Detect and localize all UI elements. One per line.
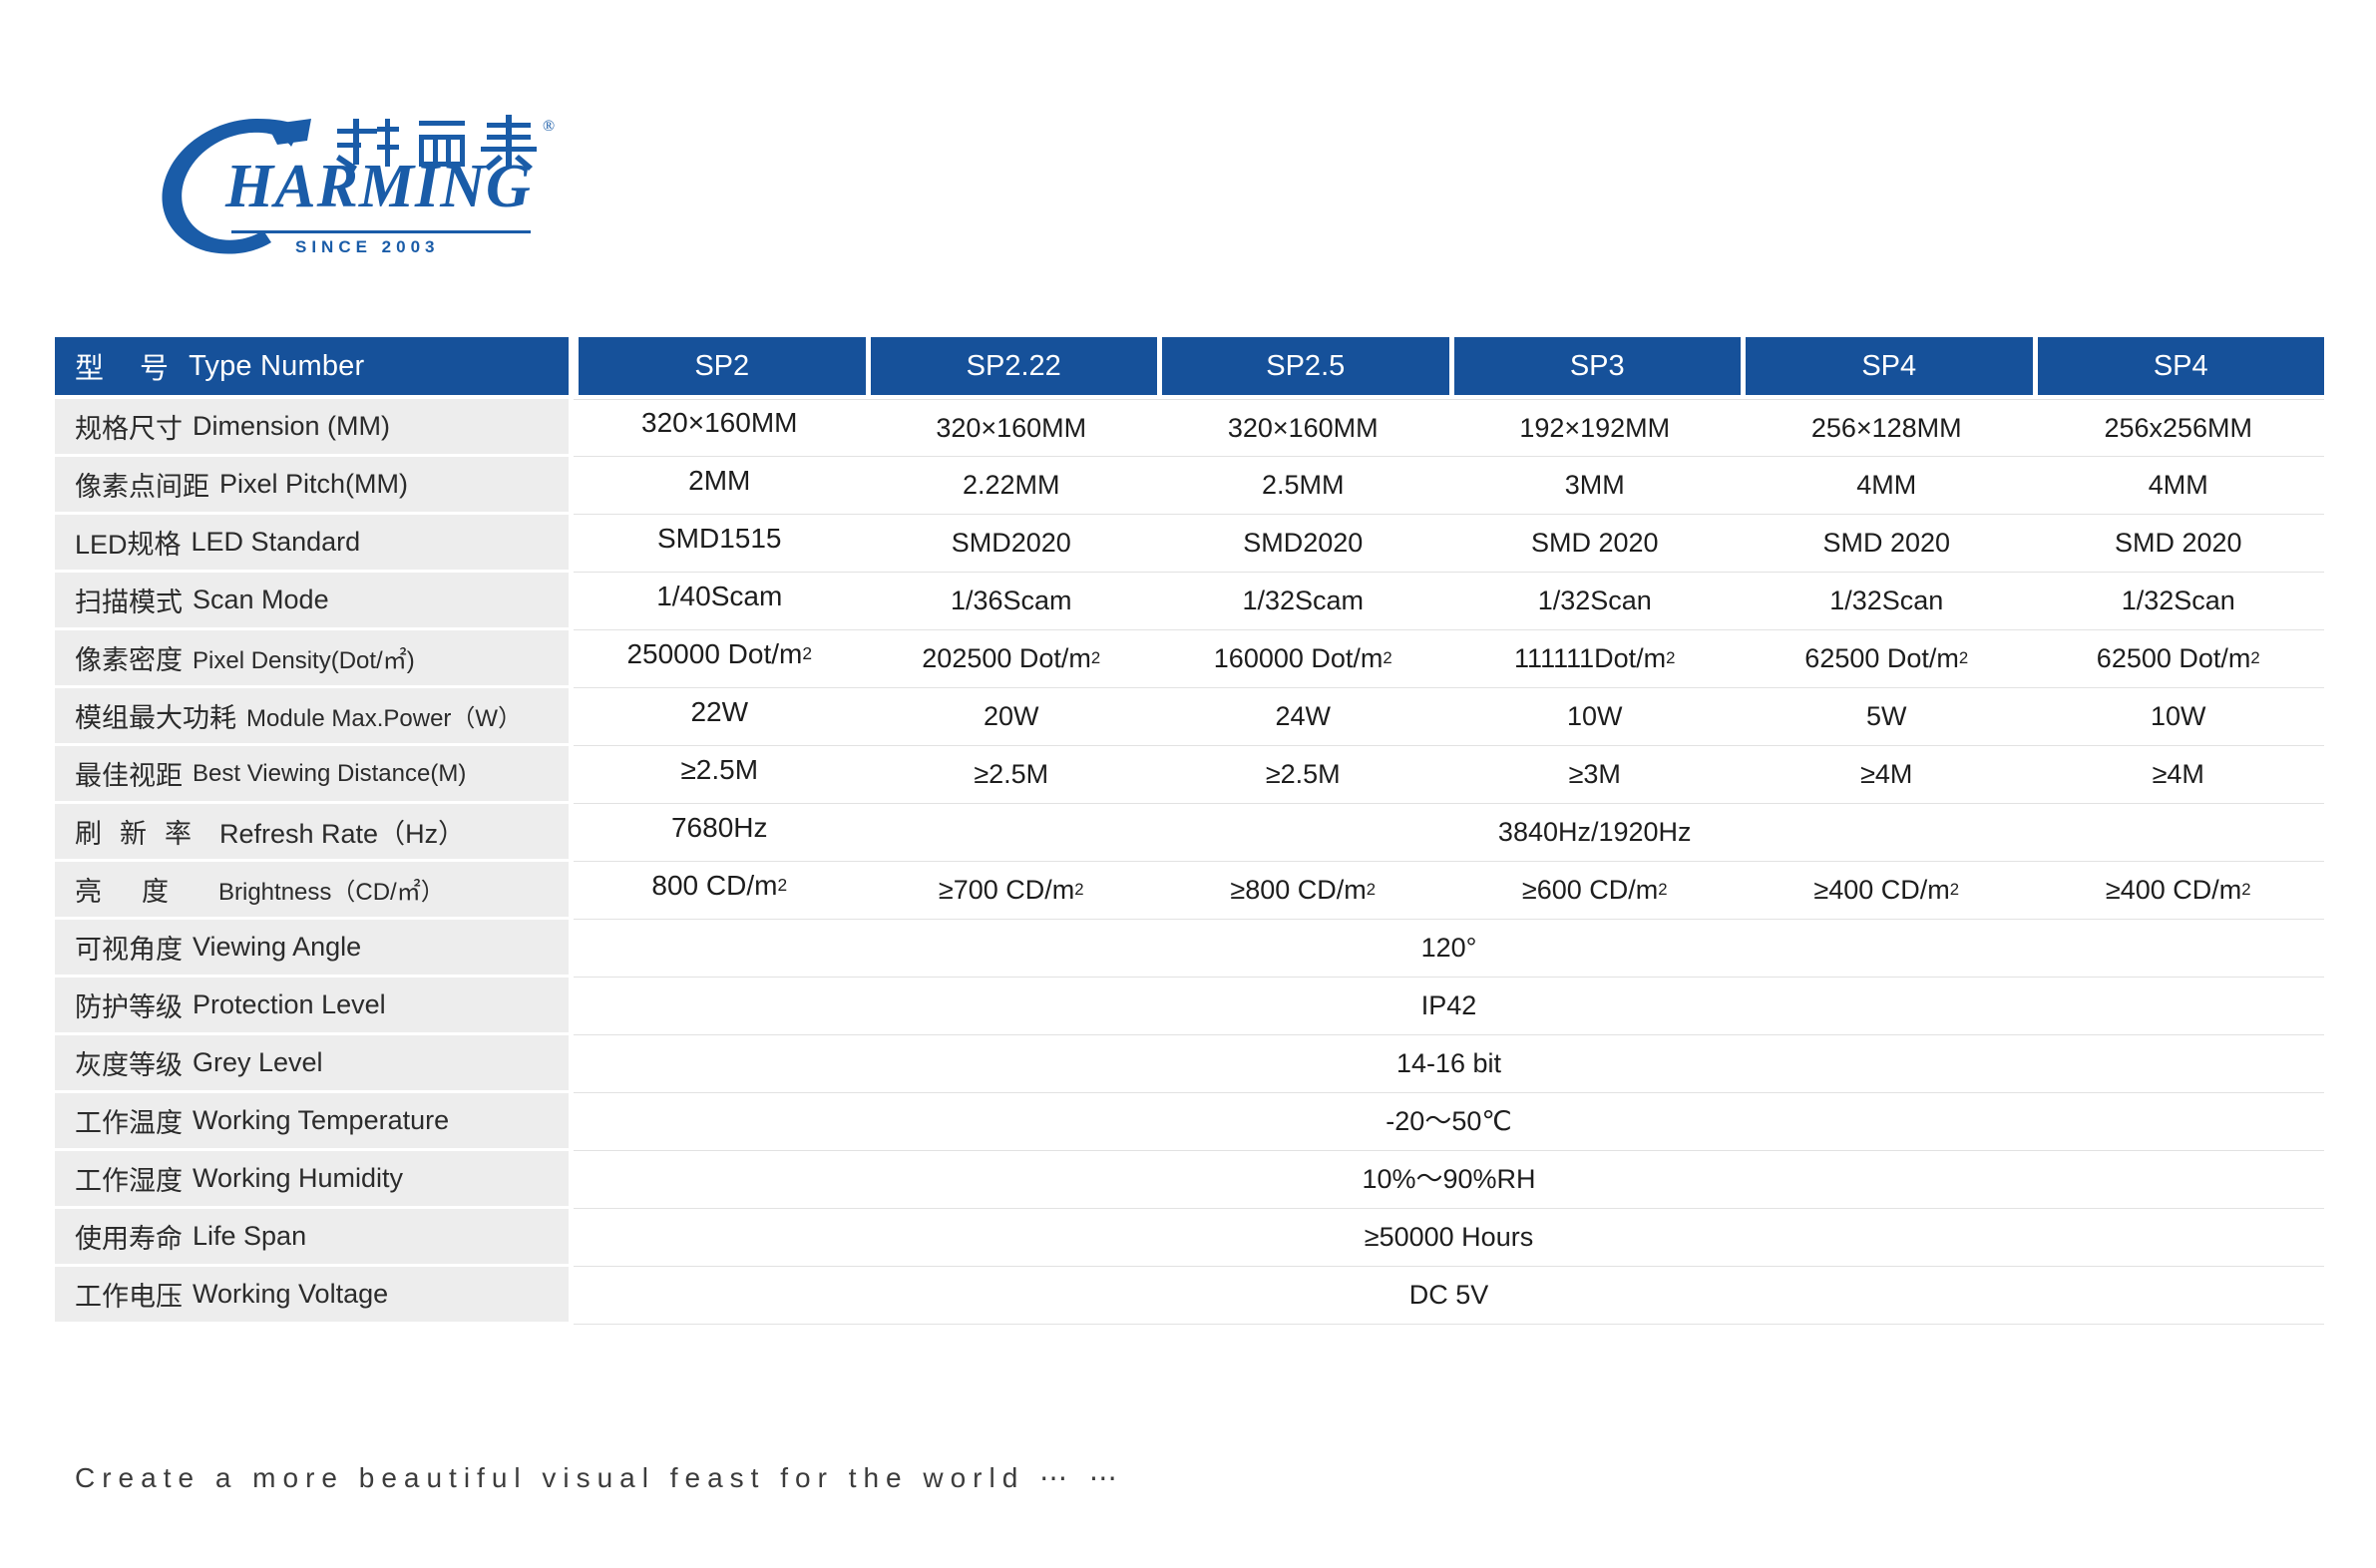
cell-value: 256×128MM xyxy=(1741,400,2033,456)
table-row: 使用寿命Life Span≥50000 Hours xyxy=(55,1209,2324,1267)
cell-value: 160000 Dot/m2 xyxy=(1157,630,1449,687)
row-label: 亮度Brightness（CD/㎡） xyxy=(55,862,569,920)
row-label-cn: 灰度等级 xyxy=(75,1043,183,1082)
cell-value: 4MM xyxy=(1741,457,2033,514)
cell-value: 1/32Scan xyxy=(2033,573,2325,629)
cell-value: 10W xyxy=(2033,688,2325,745)
table-row: 刷新率Refresh Rate（Hz）7680Hz3840Hz/1920Hz xyxy=(55,804,2324,862)
row-values: -20～50℃ xyxy=(574,1093,2324,1151)
table-row: 防护等级Protection LevelIP42 xyxy=(55,978,2324,1035)
row-label-en: Grey Level xyxy=(193,1047,323,1078)
cell-value: SMD1515 xyxy=(574,510,866,567)
cell-value: ≥2.5M xyxy=(1157,746,1449,803)
cell-value-merged: DC 5V xyxy=(1409,1267,1489,1324)
row-label: 刷新率Refresh Rate（Hz） xyxy=(55,804,569,862)
row-values: IP42 xyxy=(574,978,2324,1035)
cell-value: SMD 2020 xyxy=(1449,515,1742,572)
table-row: 工作湿度Working Humidity10%～90%RH xyxy=(55,1151,2324,1209)
row-label-cn: 工作湿度 xyxy=(75,1159,183,1198)
cell-value: ≥400 CD/m2 xyxy=(1741,862,2033,919)
cell-value: 1/32Scan xyxy=(1449,573,1742,629)
row-label: 使用寿命Life Span xyxy=(55,1209,569,1267)
row-label: 工作温度Working Temperature xyxy=(55,1093,569,1151)
cell-value: 24W xyxy=(1157,688,1449,745)
row-label-en: Best Viewing Distance(M) xyxy=(193,760,466,788)
row-label-cn: 亮度 xyxy=(75,870,208,909)
row-label-en: Scan Mode xyxy=(193,585,329,615)
row-label-cn: 使用寿命 xyxy=(75,1217,183,1256)
row-label-en: Working Humidity xyxy=(193,1163,403,1194)
row-label-cn: 模组最大功耗 xyxy=(75,696,236,735)
row-label-cn: 工作温度 xyxy=(75,1101,183,1140)
row-values: ≥50000 Hours xyxy=(574,1209,2324,1267)
cell-value: SMD2020 xyxy=(866,515,1158,572)
cell-value: 7680Hz xyxy=(574,799,866,856)
cell-value: 4MM xyxy=(2033,457,2325,514)
row-label: 工作电压Working Voltage xyxy=(55,1267,569,1325)
table-row: 灰度等级Grey Level14-16 bit xyxy=(55,1035,2324,1093)
table-row: 亮度Brightness（CD/㎡）800 CD/m2≥700 CD/m2≥80… xyxy=(55,862,2324,920)
cell-value: ≥400 CD/m2 xyxy=(2033,862,2325,919)
header-col-sp2: SP2 xyxy=(579,337,866,395)
row-values: SMD1515SMD2020SMD2020SMD 2020SMD 2020SMD… xyxy=(574,515,2324,573)
row-label-en: Life Span xyxy=(193,1221,306,1252)
header-col-sp222: SP2.22 xyxy=(871,337,1158,395)
cell-value: 2.5MM xyxy=(1157,457,1449,514)
cell-value: 250000 Dot/m2 xyxy=(574,625,866,682)
row-label: 像素密度Pixel Density(Dot/㎡) xyxy=(55,630,569,688)
table-row: 可视角度Viewing Angle120° xyxy=(55,920,2324,978)
row-label: 像素点间距Pixel Pitch(MM) xyxy=(55,457,569,515)
row-values: 120° xyxy=(574,920,2324,978)
row-values: 320×160MM320×160MM320×160MM192×192MM256×… xyxy=(574,399,2324,457)
row-label: 模组最大功耗Module Max.Power（W） xyxy=(55,688,569,746)
row-values: DC 5V xyxy=(574,1267,2324,1325)
cell-value: ≥800 CD/m2 xyxy=(1157,862,1449,919)
cell-value: SMD 2020 xyxy=(1741,515,2033,572)
row-label-en: Brightness（CD/㎡） xyxy=(218,872,445,907)
charming-logo: ® HARMING SINCE 2003 xyxy=(140,105,598,264)
cell-value: 192×192MM xyxy=(1449,400,1742,456)
cell-value: 1/40Scam xyxy=(574,568,866,624)
cell-value: 20W xyxy=(866,688,1158,745)
row-values: 14-16 bit xyxy=(574,1035,2324,1093)
row-values: 10%～90%RH xyxy=(574,1151,2324,1209)
cell-value: 320×160MM xyxy=(866,400,1158,456)
cell-value-merged: ≥50000 Hours xyxy=(1365,1209,1533,1266)
cell-value: ≥2.5M xyxy=(574,741,866,798)
cell-value: ≥4M xyxy=(2033,746,2325,803)
table-row: LED规格LED StandardSMD1515SMD2020SMD2020SM… xyxy=(55,515,2324,573)
row-label-en: Protection Level xyxy=(193,989,386,1020)
cell-value-merged: 10%～90%RH xyxy=(1362,1151,1535,1208)
cell-value-merged: IP42 xyxy=(1421,978,1477,1034)
specification-table: 型 号 Type Number SP2 SP2.22 SP2.5 SP3 SP4… xyxy=(55,337,2324,1325)
row-label: 规格尺寸Dimension (MM) xyxy=(55,399,569,457)
svg-text:HARMING: HARMING xyxy=(224,153,532,220)
row-label-en: Pixel Density(Dot/㎡) xyxy=(193,640,415,675)
table-row: 模组最大功耗Module Max.Power（W）22W20W24W10W5W1… xyxy=(55,688,2324,746)
row-label: 扫描模式Scan Mode xyxy=(55,573,569,630)
cell-value: 5W xyxy=(1741,688,2033,745)
row-values: ≥2.5M≥2.5M≥2.5M≥3M≥4M≥4M xyxy=(574,746,2324,804)
header-label-cell: 型 号 Type Number xyxy=(55,337,569,395)
cell-value: 256x256MM xyxy=(2033,400,2325,456)
row-label: 防护等级Protection Level xyxy=(55,978,569,1035)
row-values: 800 CD/m2≥700 CD/m2≥800 CD/m2≥600 CD/m2≥… xyxy=(574,862,2324,920)
svg-text:®: ® xyxy=(543,118,555,135)
row-label: 工作湿度Working Humidity xyxy=(55,1151,569,1209)
row-label: 灰度等级Grey Level xyxy=(55,1035,569,1093)
cell-value: 202500 Dot/m2 xyxy=(866,630,1158,687)
table-row: 工作温度Working Temperature-20～50℃ xyxy=(55,1093,2324,1151)
header-col-sp4-b: SP4 xyxy=(2038,337,2325,395)
table-row: 最佳视距Best Viewing Distance(M)≥2.5M≥2.5M≥2… xyxy=(55,746,2324,804)
cell-value: 111111Dot/m2 xyxy=(1449,630,1742,687)
table-header-row: 型 号 Type Number SP2 SP2.22 SP2.5 SP3 SP4… xyxy=(55,337,2324,395)
cell-value: 3MM xyxy=(1449,457,1742,514)
cell-value: ≥700 CD/m2 xyxy=(866,862,1158,919)
table-row: 像素点间距Pixel Pitch(MM)2MM2.22MM2.5MM3MM4MM… xyxy=(55,457,2324,515)
row-label-cn: 工作电压 xyxy=(75,1275,183,1314)
cell-value: 10W xyxy=(1449,688,1742,745)
cell-value-merged: -20～50℃ xyxy=(1386,1093,1511,1150)
row-label-en: LED Standard xyxy=(192,527,361,558)
cell-value: 2.22MM xyxy=(866,457,1158,514)
row-values: 2MM2.22MM2.5MM3MM4MM4MM xyxy=(574,457,2324,515)
row-label: LED规格LED Standard xyxy=(55,515,569,573)
header-label-en: Type Number xyxy=(189,350,364,383)
row-label: 最佳视距Best Viewing Distance(M) xyxy=(55,746,569,804)
row-values: 22W20W24W10W5W10W xyxy=(574,688,2324,746)
cell-value: 2MM xyxy=(574,452,866,509)
row-label-en: Module Max.Power（W） xyxy=(246,698,522,733)
row-label-en: Refresh Rate（Hz） xyxy=(219,812,465,851)
table-row: 扫描模式Scan Mode1/40Scam1/36Scam1/32Scam1/3… xyxy=(55,573,2324,630)
header-col-sp4-a: SP4 xyxy=(1746,337,2033,395)
cell-value: 22W xyxy=(574,683,866,740)
tagline: Create a more beautiful visual feast for… xyxy=(75,1461,1124,1494)
row-label-cn: 扫描模式 xyxy=(75,581,183,619)
row-label-cn: 像素密度 xyxy=(75,638,183,677)
header-label-cn: 型 号 xyxy=(75,345,189,387)
row-label-en: Working Voltage xyxy=(193,1279,388,1310)
svg-text:SINCE 2003: SINCE 2003 xyxy=(295,237,440,256)
cell-value: 1/36Scam xyxy=(866,573,1158,629)
table-row: 像素密度Pixel Density(Dot/㎡)250000 Dot/m2202… xyxy=(55,630,2324,688)
row-values: 250000 Dot/m2202500 Dot/m2160000 Dot/m21… xyxy=(574,630,2324,688)
row-label: 可视角度Viewing Angle xyxy=(55,920,569,978)
cell-value: 62500 Dot/m2 xyxy=(1741,630,2033,687)
header-col-sp3: SP3 xyxy=(1454,337,1742,395)
header-col-sp25: SP2.5 xyxy=(1162,337,1449,395)
cell-value: SMD2020 xyxy=(1157,515,1449,572)
cell-value: 1/32Scan xyxy=(1741,573,2033,629)
row-label-cn: 规格尺寸 xyxy=(75,407,183,446)
cell-value: 800 CD/m2 xyxy=(574,857,866,914)
cell-value: 320×160MM xyxy=(1157,400,1449,456)
row-label-cn: 刷新率 xyxy=(75,812,209,851)
row-values: 7680Hz3840Hz/1920Hz xyxy=(574,804,2324,862)
row-values: 1/40Scam1/36Scam1/32Scam1/32Scan1/32Scan… xyxy=(574,573,2324,630)
row-label-en: Viewing Angle xyxy=(193,932,361,963)
cell-value: ≥2.5M xyxy=(866,746,1158,803)
row-label-en: Dimension (MM) xyxy=(193,411,390,442)
cell-value: SMD 2020 xyxy=(2033,515,2325,572)
cell-value: 1/32Scam xyxy=(1157,573,1449,629)
cell-value: 320×160MM xyxy=(574,395,866,451)
cell-value-merged: 120° xyxy=(1421,920,1477,977)
row-label-cn: 防护等级 xyxy=(75,985,183,1024)
cell-value: 62500 Dot/m2 xyxy=(2033,630,2325,687)
row-label-cn: LED规格 xyxy=(75,523,182,562)
row-label-cn: 最佳视距 xyxy=(75,754,183,793)
cell-value-merged: 3840Hz/1920Hz xyxy=(866,804,2325,861)
cell-value: ≥600 CD/m2 xyxy=(1449,862,1742,919)
row-label-en: Pixel Pitch(MM) xyxy=(219,469,408,500)
spec-sheet-page: ® HARMING SINCE 2003 型 号 Type Number SP2… xyxy=(0,0,2376,1568)
table-row: 规格尺寸Dimension (MM)320×160MM320×160MM320×… xyxy=(55,399,2324,457)
row-label-cn: 像素点间距 xyxy=(75,465,209,504)
row-label-en: Working Temperature xyxy=(193,1105,449,1136)
table-row: 工作电压Working VoltageDC 5V xyxy=(55,1267,2324,1325)
table-body: 规格尺寸Dimension (MM)320×160MM320×160MM320×… xyxy=(55,399,2324,1325)
row-label-cn: 可视角度 xyxy=(75,928,183,967)
cell-value-merged: 14-16 bit xyxy=(1396,1035,1501,1092)
cell-value: ≥4M xyxy=(1741,746,2033,803)
cell-value: ≥3M xyxy=(1449,746,1742,803)
